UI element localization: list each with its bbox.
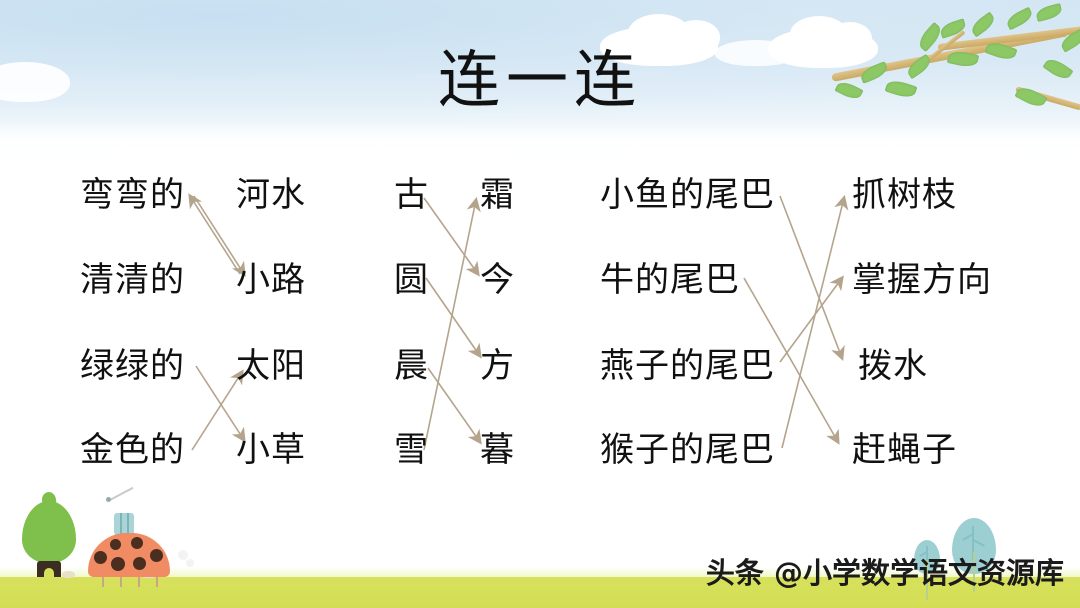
ladybug-leg — [138, 577, 140, 587]
slide-canvas: 连一连 — [0, 0, 1080, 608]
list-item[interactable]: 牛的尾巴 — [600, 255, 740, 305]
ladybug-leg — [156, 577, 158, 587]
list-item[interactable]: 雪 — [394, 425, 429, 475]
list-item[interactable]: 暮 — [480, 425, 515, 475]
leaf-icon — [939, 18, 968, 38]
list-item[interactable]: 弯弯的 — [80, 170, 185, 220]
ladybug-spot — [150, 549, 163, 562]
list-item[interactable]: 晨 — [394, 341, 429, 391]
list-item[interactable]: 赶蝇子 — [852, 425, 957, 475]
flower-icon — [186, 559, 194, 567]
match-column-1: 弯弯的 河水 清清的 小路 绿绿的 太阳 金色的 小草 — [0, 150, 340, 480]
ladybug-icon — [88, 533, 170, 577]
exercise-board: 弯弯的 河水 清清的 小路 绿绿的 太阳 金色的 小草 古 霜 圆 今 晨 方 … — [0, 150, 1080, 510]
flower-icon — [178, 550, 188, 560]
bush-trunk — [37, 561, 61, 577]
list-item[interactable]: 圆 — [394, 255, 429, 305]
list-item[interactable]: 燕子的尾巴 — [600, 341, 775, 391]
leaf-icon — [1005, 7, 1035, 31]
ladybug-spot — [111, 557, 125, 571]
watermark: 头条 @小学数学语文资源库 — [706, 556, 1064, 590]
list-item[interactable]: 太阳 — [236, 341, 306, 391]
ladybug-spot — [133, 557, 146, 570]
match-column-2: 古 霜 圆 今 晨 方 雪 暮 — [340, 150, 580, 480]
pebble-icon — [62, 571, 75, 578]
bush-body — [22, 501, 76, 563]
leaf-icon — [1035, 3, 1063, 22]
ladybug-leg — [102, 577, 104, 587]
list-item[interactable]: 方 — [480, 341, 515, 391]
list-item[interactable]: 绿绿的 — [80, 341, 185, 391]
list-item[interactable]: 古 — [394, 170, 429, 220]
ladybug-spot — [131, 537, 143, 549]
list-item[interactable]: 掌握方向 — [852, 255, 992, 305]
list-item[interactable]: 清清的 — [80, 255, 185, 305]
list-item[interactable]: 小路 — [236, 255, 306, 305]
ladybug-spot — [94, 551, 107, 564]
list-item[interactable]: 金色的 — [80, 425, 185, 475]
match-column-3: 小鱼的尾巴 抓树枝 牛的尾巴 掌握方向 燕子的尾巴 拨水 猴子的尾巴 赶蝇子 — [580, 150, 1080, 480]
list-item[interactable]: 猴子的尾巴 — [600, 425, 775, 475]
ladybug-antenna-tip — [106, 497, 111, 502]
ladybug-backpack — [114, 513, 134, 535]
bush-icon — [22, 501, 76, 563]
list-item[interactable]: 小鱼的尾巴 — [600, 170, 775, 220]
ladybug-body — [88, 533, 170, 577]
list-item[interactable]: 河水 — [236, 170, 306, 220]
page-title: 连一连 — [0, 48, 1080, 112]
list-item[interactable]: 拨水 — [858, 341, 928, 391]
list-item[interactable]: 小草 — [236, 425, 306, 475]
list-item[interactable]: 霜 — [480, 170, 515, 220]
leaf-icon — [969, 12, 998, 38]
list-item[interactable]: 今 — [480, 255, 515, 305]
ladybug-leg — [120, 577, 122, 587]
list-item[interactable]: 抓树枝 — [852, 170, 957, 220]
ladybug-spot — [110, 539, 121, 550]
